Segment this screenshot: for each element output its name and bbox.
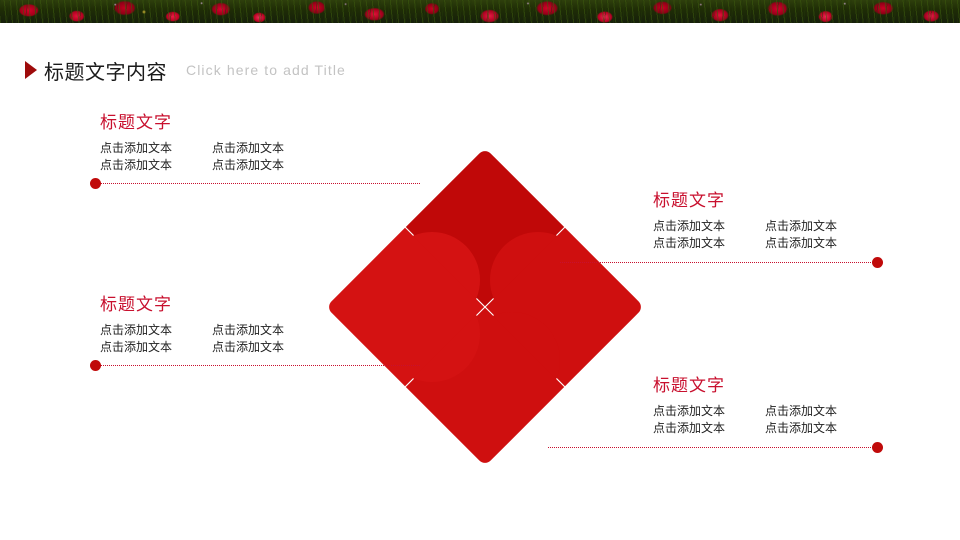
connector-middle-left	[90, 360, 420, 371]
header-banner-image	[0, 0, 960, 23]
block-cell[interactable]: 点击添加文本	[212, 340, 324, 355]
block-heading: 标题文字	[100, 108, 324, 133]
connector-line	[560, 262, 875, 263]
connector-dot	[872, 257, 883, 268]
four-heart-clover-graphic[interactable]	[330, 152, 640, 468]
block-cell[interactable]: 点击添加文本	[100, 340, 212, 355]
block-cell[interactable]: 点击添加文本	[765, 404, 877, 419]
block-cell[interactable]: 点击添加文本	[212, 141, 324, 156]
block-cell[interactable]: 点击添加文本	[100, 158, 212, 173]
block-cell[interactable]: 点击添加文本	[653, 404, 765, 419]
page-subtitle[interactable]: Click here to add Title	[186, 62, 346, 78]
connector-dot	[90, 178, 101, 189]
text-block-bottom-right[interactable]: 标题文字 点击添加文本 点击添加文本 点击添加文本 点击添加文本	[653, 371, 877, 436]
block-cell[interactable]: 点击添加文本	[100, 323, 212, 338]
block-heading: 标题文字	[100, 290, 324, 315]
text-block-middle-right[interactable]: 标题文字 点击添加文本 点击添加文本 点击添加文本 点击添加文本	[653, 186, 877, 251]
triangle-right-icon	[25, 61, 37, 79]
connector-top-left	[90, 178, 420, 189]
connector-bottom-right	[548, 442, 883, 453]
connector-line	[548, 447, 875, 448]
block-cell[interactable]: 点击添加文本	[765, 219, 877, 234]
block-body: 点击添加文本 点击添加文本 点击添加文本 点击添加文本	[100, 323, 324, 355]
block-heading: 标题文字	[653, 186, 877, 211]
block-cell[interactable]: 点击添加文本	[100, 141, 212, 156]
block-cell[interactable]: 点击添加文本	[653, 219, 765, 234]
block-cell[interactable]: 点击添加文本	[765, 236, 877, 251]
text-block-middle-left[interactable]: 标题文字 点击添加文本 点击添加文本 点击添加文本 点击添加文本	[100, 290, 324, 355]
slide-header: 标题文字内容 Click here to add Title	[0, 23, 960, 70]
block-body: 点击添加文本 点击添加文本 点击添加文本 点击添加文本	[100, 141, 324, 173]
banner-highlight-layer	[0, 0, 960, 23]
connector-line	[98, 183, 420, 184]
slide-canvas: 标题文字内容 Click here to add Title	[0, 0, 960, 540]
connector-line	[98, 365, 420, 366]
block-cell[interactable]: 点击添加文本	[765, 421, 877, 436]
connector-dot	[90, 360, 101, 371]
block-cell[interactable]: 点击添加文本	[212, 323, 324, 338]
page-title: 标题文字内容	[44, 56, 167, 85]
block-body: 点击添加文本 点击添加文本 点击添加文本 点击添加文本	[653, 404, 877, 436]
connector-dot	[872, 442, 883, 453]
text-block-top-left[interactable]: 标题文字 点击添加文本 点击添加文本 点击添加文本 点击添加文本	[100, 108, 324, 173]
block-cell[interactable]: 点击添加文本	[653, 236, 765, 251]
block-body: 点击添加文本 点击添加文本 点击添加文本 点击添加文本	[653, 219, 877, 251]
block-heading: 标题文字	[653, 371, 877, 396]
block-cell[interactable]: 点击添加文本	[653, 421, 765, 436]
connector-middle-right	[560, 257, 883, 268]
block-cell[interactable]: 点击添加文本	[212, 158, 324, 173]
